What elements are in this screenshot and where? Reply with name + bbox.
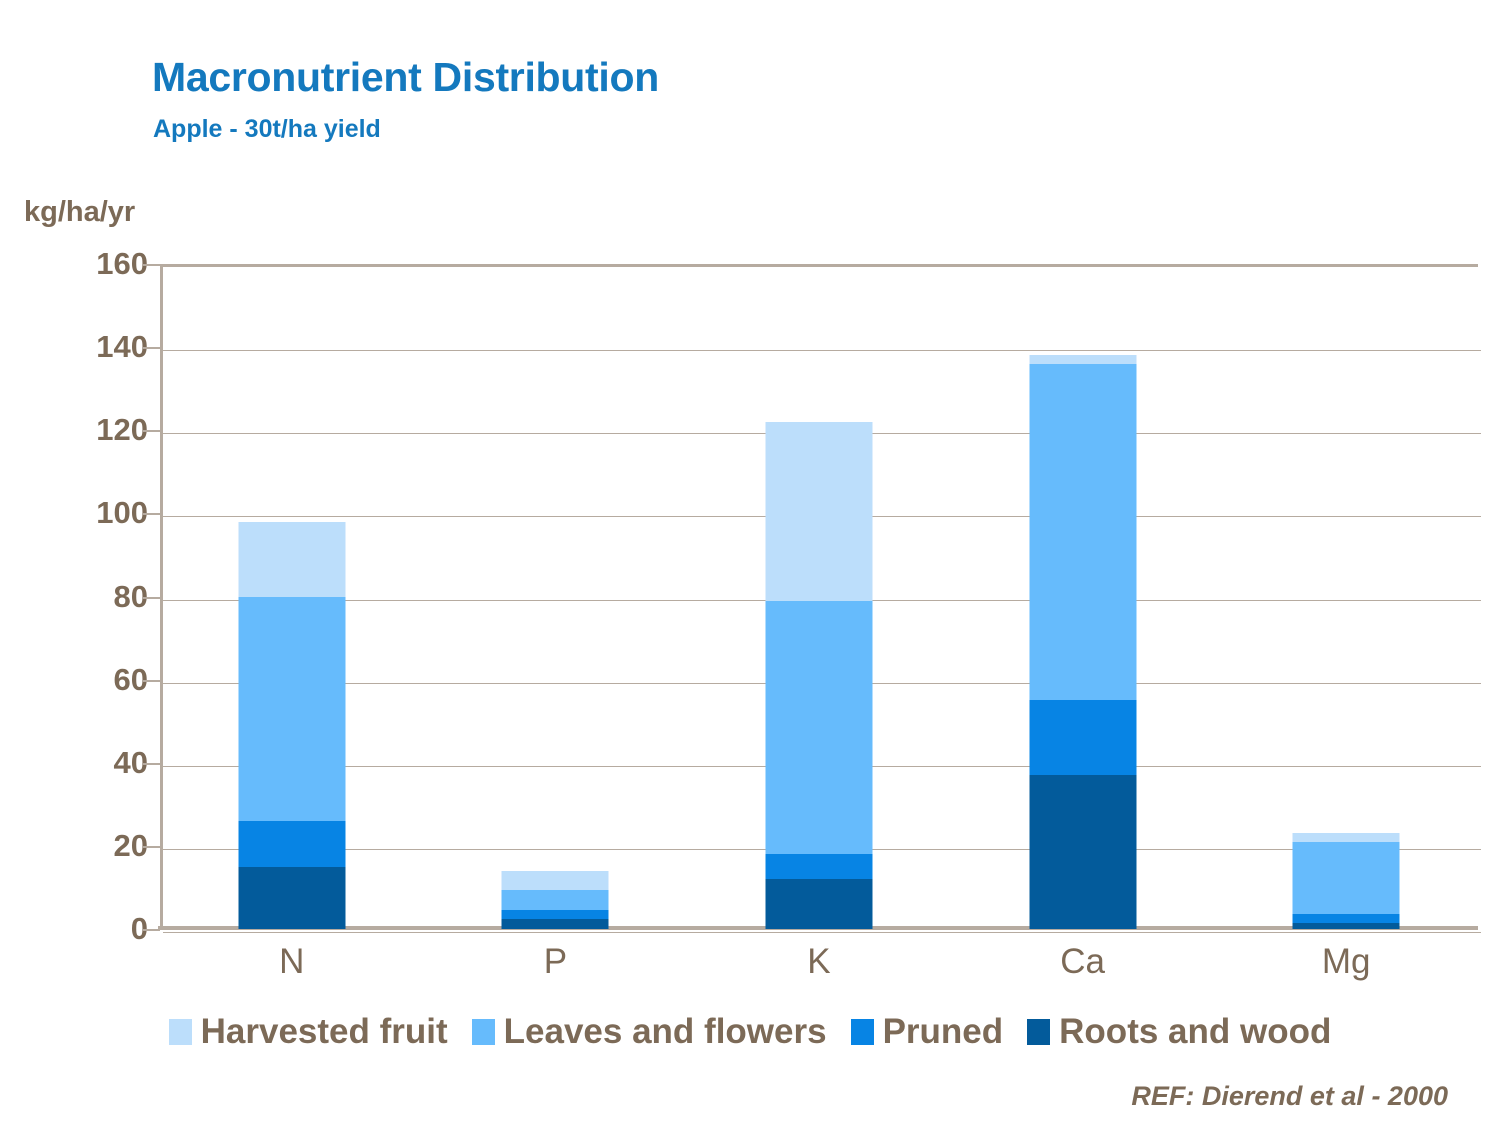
bar-stack (502, 871, 609, 929)
bar-group-k (687, 264, 951, 929)
y-tick-mark (143, 430, 160, 432)
x-axis-labels: NPKCaMg (160, 942, 1478, 992)
bar-segment-pruned[interactable] (1029, 700, 1136, 775)
legend-label: Leaves and flowers (504, 1014, 827, 1049)
bar-stack (1293, 833, 1400, 929)
bar-segment-harvested-fruit[interactable] (765, 422, 872, 601)
y-tick-mark (143, 264, 160, 266)
reference-note: REF: Dierend et al - 2000 (1131, 1081, 1448, 1112)
legend-label: Pruned (883, 1014, 1004, 1049)
y-tick-label: 0 (18, 911, 148, 947)
legend-item-leaves-and-flowers[interactable]: Leaves and flowers (472, 1014, 827, 1049)
y-tick-label: 140 (18, 329, 148, 365)
legend-swatch-icon (851, 1019, 874, 1045)
chart-legend: Harvested fruitLeaves and flowersPrunedR… (0, 1014, 1500, 1049)
legend-swatch-icon (169, 1019, 192, 1045)
x-tick-label-ca: Ca (951, 942, 1215, 982)
bar-segment-leaves-and-flowers[interactable] (502, 890, 609, 911)
y-tick-mark (143, 597, 160, 599)
y-tick-label: 160 (18, 246, 148, 282)
bar-segment-leaves-and-flowers[interactable] (238, 597, 345, 821)
y-tick-mark (143, 680, 160, 682)
bar-segment-roots-and-wood[interactable] (1029, 775, 1136, 929)
legend-label: Harvested fruit (201, 1014, 448, 1049)
bar-group-n (160, 264, 424, 929)
bar-segment-roots-and-wood[interactable] (1293, 923, 1400, 929)
bar-segment-leaves-and-flowers[interactable] (1029, 364, 1136, 701)
y-tick-label: 40 (18, 745, 148, 781)
chart-title: Macronutrient Distribution (152, 54, 659, 101)
gridline (163, 932, 1481, 933)
bar-group-mg (1214, 264, 1478, 929)
bar-group-p (424, 264, 688, 929)
y-tick-label: 80 (18, 579, 148, 615)
bar-segment-roots-and-wood[interactable] (238, 867, 345, 929)
y-tick-label: 120 (18, 412, 148, 448)
bar-segment-pruned[interactable] (502, 910, 609, 918)
x-tick-label-k: K (687, 942, 951, 982)
y-tick-mark (143, 846, 160, 848)
y-tick-label: 20 (18, 828, 148, 864)
bar-stack (765, 422, 872, 929)
bars-layer (160, 264, 1478, 929)
bar-segment-harvested-fruit[interactable] (502, 871, 609, 890)
bar-stack (1029, 355, 1136, 929)
x-tick-label-p: P (424, 942, 688, 982)
chart-subtitle: Apple - 30t/ha yield (153, 115, 381, 144)
y-tick-label: 60 (18, 662, 148, 698)
x-tick-label-mg: Mg (1214, 942, 1478, 982)
bar-segment-roots-and-wood[interactable] (765, 879, 872, 929)
y-tick-mark (143, 929, 160, 931)
bar-segment-harvested-fruit[interactable] (1029, 355, 1136, 363)
bar-segment-pruned[interactable] (238, 821, 345, 867)
bar-stack (238, 522, 345, 929)
legend-swatch-icon (472, 1019, 495, 1045)
y-tick-mark (143, 513, 160, 515)
bar-segment-harvested-fruit[interactable] (1293, 833, 1400, 841)
legend-swatch-icon (1027, 1019, 1050, 1045)
bar-segment-pruned[interactable] (1293, 914, 1400, 922)
legend-item-pruned[interactable]: Pruned (851, 1014, 1004, 1049)
y-axis-ticks: 020406080100120140160 (0, 0, 148, 1125)
y-tick-mark (143, 763, 160, 765)
legend-label: Roots and wood (1059, 1014, 1331, 1049)
bar-segment-pruned[interactable] (765, 854, 872, 879)
legend-item-roots-and-wood[interactable]: Roots and wood (1027, 1014, 1331, 1049)
bar-segment-leaves-and-flowers[interactable] (765, 601, 872, 855)
y-tick-mark (143, 347, 160, 349)
bar-group-ca (951, 264, 1215, 929)
y-tick-label: 100 (18, 495, 148, 531)
bar-segment-leaves-and-flowers[interactable] (1293, 842, 1400, 915)
x-tick-label-n: N (160, 942, 424, 982)
legend-item-harvested-fruit[interactable]: Harvested fruit (169, 1014, 448, 1049)
bar-segment-harvested-fruit[interactable] (238, 522, 345, 597)
bar-segment-roots-and-wood[interactable] (502, 919, 609, 929)
